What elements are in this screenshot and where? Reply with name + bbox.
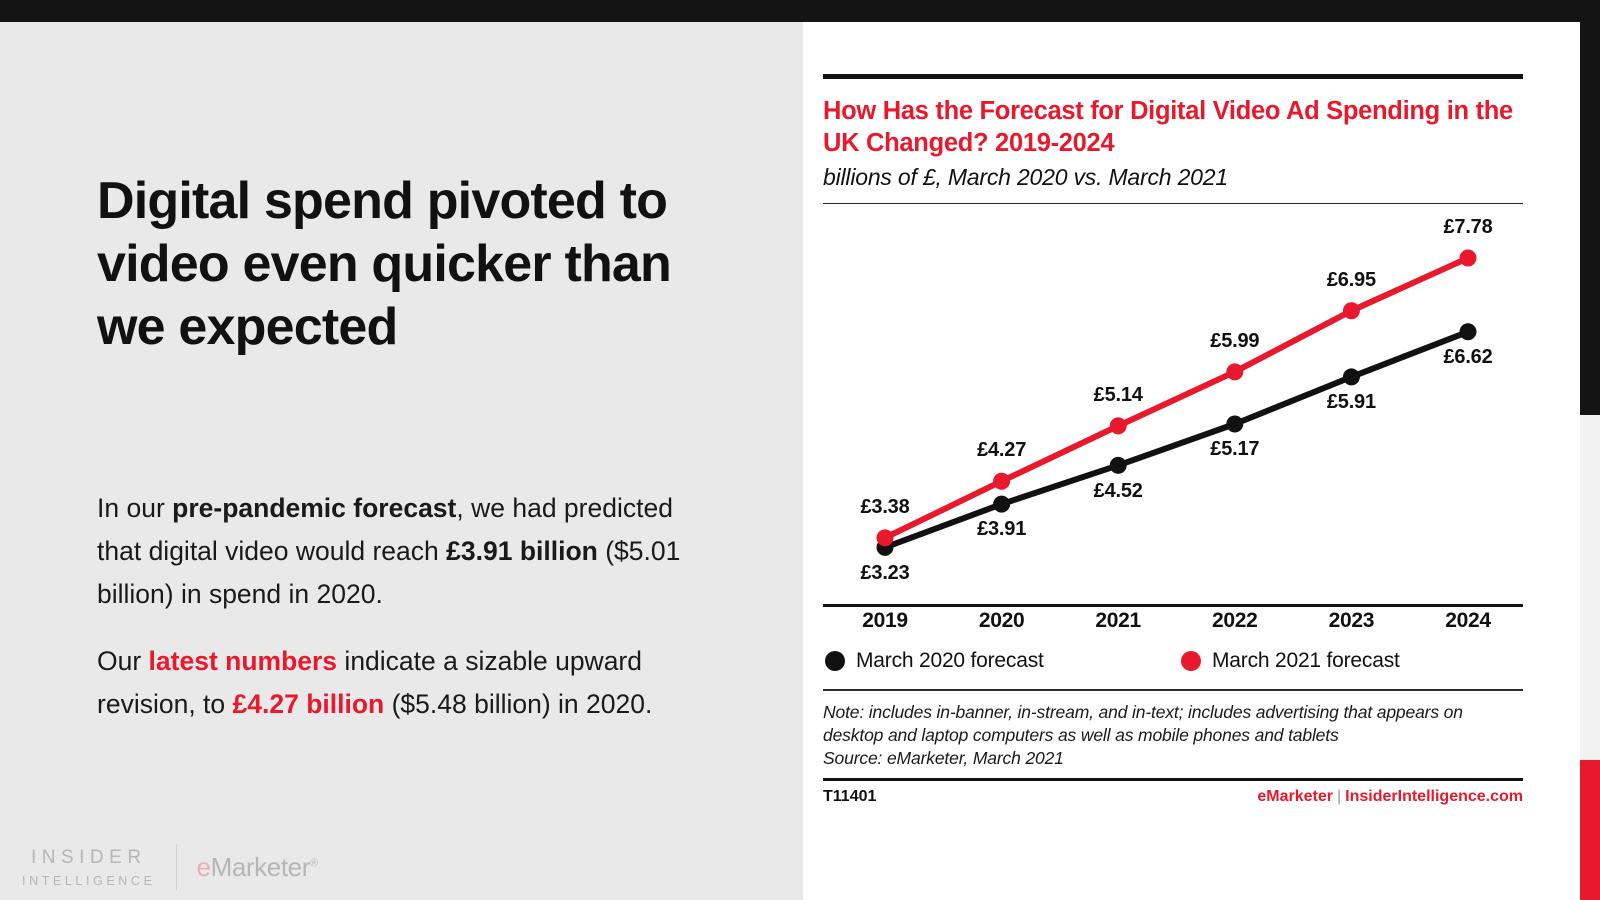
headline: Digital spend pivoted to video even quic… — [97, 170, 737, 359]
data-point-label: £5.91 — [1327, 391, 1376, 414]
p1-bold1: pre-pandemic forecast — [172, 493, 456, 523]
brand-logo-lockup: INSIDER INTELLIGENCE eMarketer® — [22, 844, 318, 890]
paragraph-1: In our pre-pandemic forecast, we had pre… — [97, 487, 703, 616]
trademark-symbol: ® — [310, 857, 318, 869]
chart-id: T11401 — [823, 788, 876, 806]
data-point-label: £5.17 — [1210, 438, 1259, 461]
x-axis-tick-2021: 2021 — [1095, 609, 1141, 633]
legend-dot-icon — [1181, 651, 1201, 671]
paragraph-2: Our latest numbers indicate a sizable up… — [97, 640, 703, 726]
legend-dot-icon — [825, 651, 845, 671]
rule-top — [823, 74, 1523, 79]
chart-title: How Has the Forecast for Digital Video A… — [823, 95, 1523, 160]
data-point[interactable] — [1110, 457, 1127, 474]
data-point[interactable] — [993, 473, 1010, 490]
x-axis-tick-2024: 2024 — [1445, 609, 1491, 633]
data-point-label: £4.52 — [1094, 480, 1143, 503]
legend-item-1[interactable]: March 2021 forecast — [1181, 649, 1400, 673]
footer-insiderintelligence[interactable]: InsiderIntelligence.com — [1345, 788, 1523, 805]
data-point[interactable] — [1343, 369, 1360, 386]
data-point-label: £4.27 — [977, 439, 1026, 462]
data-point-label: £5.99 — [1210, 330, 1259, 353]
data-point[interactable] — [1110, 418, 1127, 435]
rule-x-axis — [823, 604, 1523, 607]
chart-footnotes: Note: includes in-banner, in-stream, and… — [823, 701, 1523, 771]
chart-legend: March 2020 forecastMarch 2021 forecast — [823, 649, 1523, 689]
x-axis-tick-2023: 2023 — [1329, 609, 1375, 633]
chart-source: Source: eMarketer, March 2021 — [823, 747, 1523, 770]
rule-above-footer — [823, 778, 1523, 781]
data-point[interactable] — [993, 496, 1010, 513]
chart-subtitle: billions of £, March 2020 vs. March 2021 — [823, 164, 1523, 191]
legend-label: March 2020 forecast — [856, 649, 1044, 673]
data-point-label: £6.95 — [1327, 269, 1376, 292]
slide-root: Digital spend pivoted to video even quic… — [0, 0, 1600, 900]
x-axis-tick-2019: 2019 — [862, 609, 908, 633]
emarketer-logo-rest: Marketer — [211, 852, 310, 882]
series-line-1 — [885, 258, 1468, 538]
rule-above-note — [823, 689, 1523, 691]
emarketer-logo: eMarketer® — [197, 852, 318, 883]
left-panel: Digital spend pivoted to video even quic… — [0, 22, 803, 900]
data-point[interactable] — [877, 530, 894, 547]
series-line-0 — [885, 332, 1468, 548]
p2-seg3: ($5.48 billion) in 2020. — [384, 689, 652, 719]
insider-intelligence-logo: INSIDER INTELLIGENCE — [22, 847, 156, 888]
logo-line-insider: INSIDER — [31, 847, 147, 869]
data-point[interactable] — [1343, 303, 1360, 320]
data-point[interactable] — [1460, 250, 1477, 267]
emarketer-logo-e: e — [197, 852, 211, 882]
data-point-label: £3.23 — [860, 562, 909, 585]
p1-bold2: £3.91 billion — [446, 536, 598, 566]
chart-plot-area: £3.23£3.91£4.52£5.17£5.91£6.62£3.38£4.27… — [823, 204, 1523, 604]
logo-line-intelligence: INTELLIGENCE — [22, 874, 156, 888]
p2-red2: £4.27 billion — [233, 689, 385, 719]
data-point[interactable] — [1226, 416, 1243, 433]
data-point-label: £3.91 — [977, 518, 1026, 541]
edge-strip-black — [1580, 0, 1600, 415]
x-axis-labels: 201920202021202220232024 — [823, 609, 1523, 645]
x-axis-tick-2020: 2020 — [979, 609, 1025, 633]
edge-strip-gray — [1580, 415, 1600, 760]
top-black-bar — [0, 0, 1580, 22]
data-point[interactable] — [1226, 364, 1243, 381]
data-point-label: £3.38 — [860, 496, 909, 519]
chart-note: Note: includes in-banner, in-stream, and… — [823, 701, 1523, 748]
body-copy: In our pre-pandemic forecast, we had pre… — [97, 487, 703, 726]
p2-seg1: Our — [97, 646, 149, 676]
data-point-label: £7.78 — [1443, 216, 1492, 239]
footer-emarketer: eMarketer — [1257, 788, 1333, 805]
data-point[interactable] — [1460, 324, 1477, 341]
footer-brand: eMarketer|InsiderIntelligence.com — [1257, 788, 1523, 806]
footer-separator: | — [1337, 788, 1341, 805]
logo-divider — [176, 844, 177, 890]
data-point-label: £5.14 — [1094, 384, 1143, 407]
chart-svg — [823, 204, 1523, 604]
chart-footer: T11401 eMarketer|InsiderIntelligence.com — [823, 788, 1523, 806]
x-axis-tick-2022: 2022 — [1212, 609, 1258, 633]
legend-label: March 2021 forecast — [1212, 649, 1400, 673]
data-point-label: £6.62 — [1443, 346, 1492, 369]
chart-card: How Has the Forecast for Digital Video A… — [823, 74, 1523, 799]
legend-item-0[interactable]: March 2020 forecast — [825, 649, 1044, 673]
p2-red1: latest numbers — [149, 646, 338, 676]
edge-strip-red — [1580, 760, 1600, 900]
p1-seg1: In our — [97, 493, 172, 523]
